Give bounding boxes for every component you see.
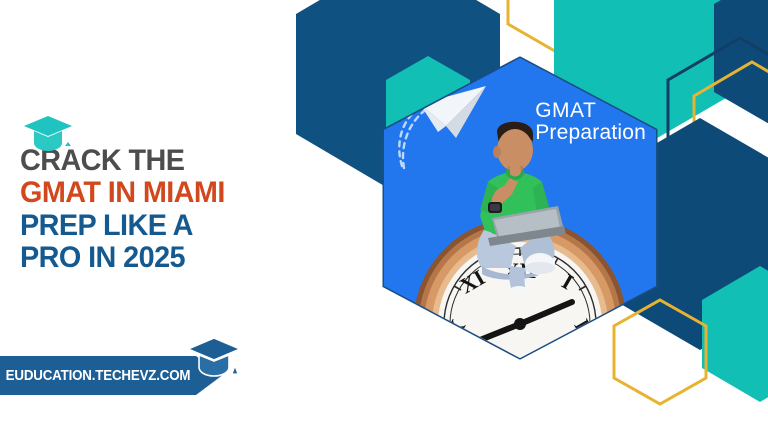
photo-hexagon-panel: XII XI I II X VI GMAT Preparation — [384, 58, 656, 358]
photo-caption-line-1: GMAT — [535, 100, 646, 122]
headline-line-3: PREP LIKE A — [20, 210, 308, 242]
graduation-cap-icon — [22, 112, 74, 156]
headline-line-4: PRO IN 2025 — [20, 242, 308, 274]
graduation-cap-icon — [186, 334, 242, 382]
website-url-text: EUDUCATION.TECHEVZ.COM — [8, 356, 188, 395]
photo-hexagon-content: XII XI I II X VI GMAT Preparation — [384, 58, 656, 358]
promo-banner: CRACK THE GMAT IN MIAMI PREP LIKE A PRO … — [0, 0, 768, 432]
photo-caption-line-2: Preparation — [535, 122, 646, 144]
headline: CRACK THE GMAT IN MIAMI PREP LIKE A PRO … — [20, 145, 320, 275]
headline-line-2: GMAT IN MIAMI — [20, 177, 308, 209]
photo-caption: GMAT Preparation — [535, 100, 646, 144]
